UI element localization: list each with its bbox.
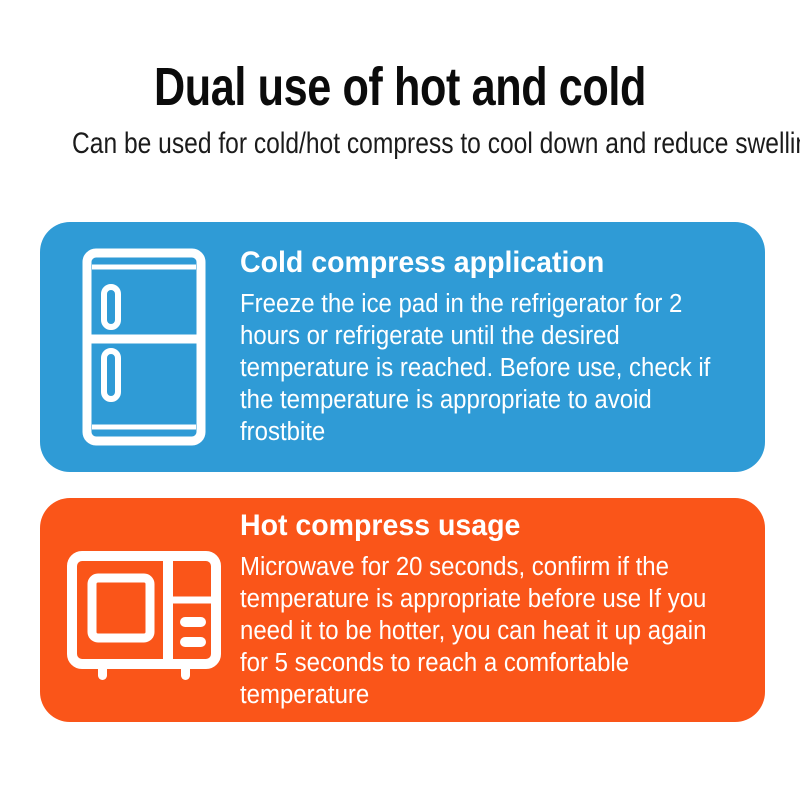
page-title: Dual use of hot and cold bbox=[80, 60, 720, 114]
microwave-icon bbox=[64, 548, 224, 688]
infographic-page: Dual use of hot and cold Can be used for… bbox=[0, 0, 800, 800]
hot-card-body: Hot compress usage Microwave for 20 seco… bbox=[240, 509, 765, 711]
cold-compress-card: Cold compress application Freeze the ice… bbox=[40, 222, 765, 472]
hot-card-heading: Hot compress usage bbox=[240, 509, 718, 543]
hot-card-icon-wrap bbox=[40, 532, 240, 688]
refrigerator-icon bbox=[78, 247, 210, 447]
header: Dual use of hot and cold Can be used for… bbox=[0, 0, 800, 160]
cold-card-heading: Cold compress application bbox=[240, 246, 718, 280]
page-subtitle: Can be used for cold/hot compress to coo… bbox=[72, 128, 728, 160]
hot-compress-card: Hot compress usage Microwave for 20 seco… bbox=[40, 498, 765, 722]
hot-card-text: Microwave for 20 seconds, confirm if the… bbox=[240, 551, 713, 711]
cold-card-body: Cold compress application Freeze the ice… bbox=[240, 246, 765, 448]
cold-card-icon-wrap bbox=[40, 247, 240, 447]
cold-card-text: Freeze the ice pad in the refrigerator f… bbox=[240, 288, 713, 448]
